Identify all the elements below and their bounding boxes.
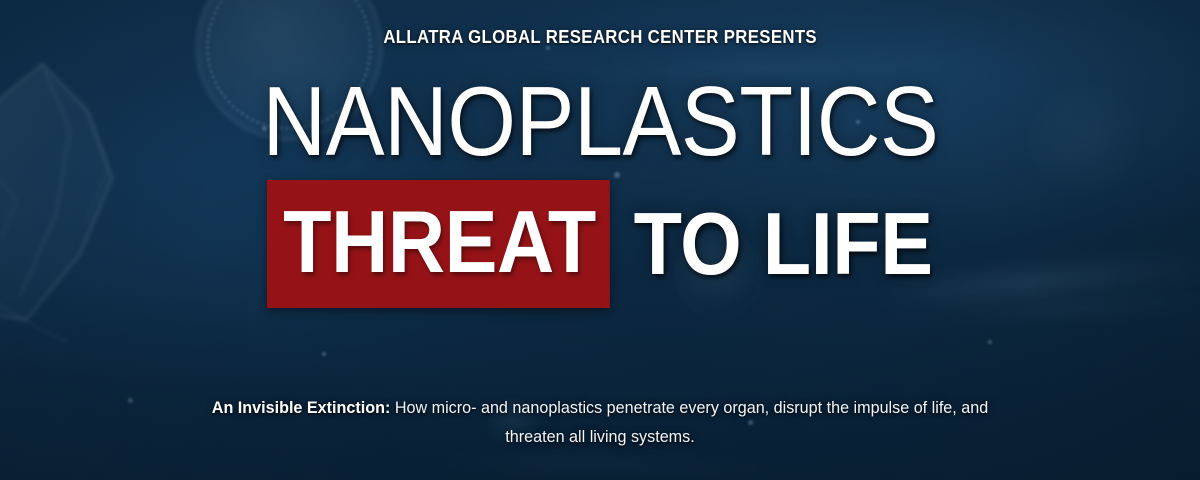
presenter-eyebrow: ALLATRA GLOBAL RESEARCH CENTER PRESENTS [383,27,817,48]
page-title-line-2: THREAT TO LIFE [267,180,933,308]
event-promo-banner: ALLATRA GLOBAL RESEARCH CENTER PRESENTS … [0,0,1200,480]
page-title-line-1: NANOPLASTICS [262,74,938,168]
banner-content: ALLATRA GLOBAL RESEARCH CENTER PRESENTS … [0,0,1200,480]
title-highlight-threat: THREAT [267,180,610,308]
title-block: NANOPLASTICS THREAT TO LIFE [0,74,1200,308]
title-tail-to-life: TO LIFE [610,200,932,288]
